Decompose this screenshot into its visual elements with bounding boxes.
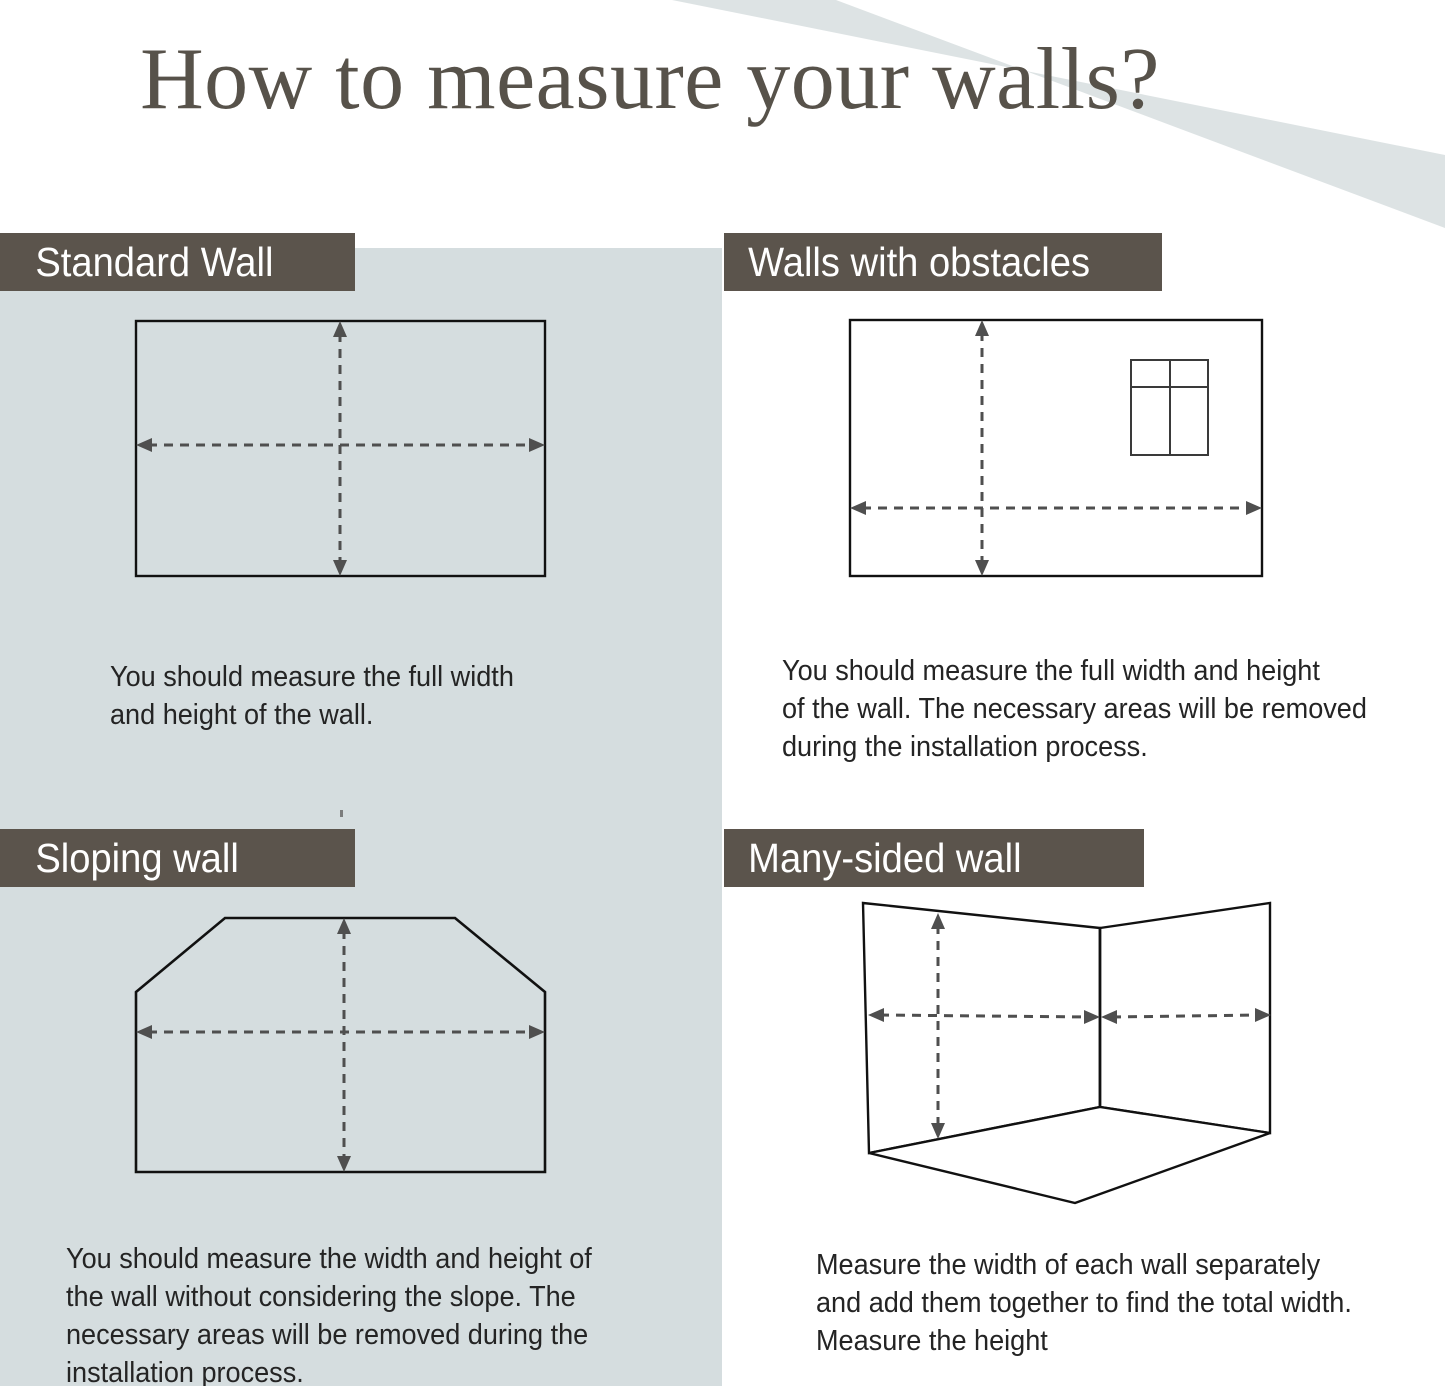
left-wall-face	[863, 903, 1100, 1153]
caption-text: You should measure the full width and he…	[110, 658, 680, 734]
caption-sloping-wall: You should measure the width and height …	[66, 1202, 676, 1386]
caption-text: You should measure the full width and he…	[782, 652, 1390, 766]
section-header-many-sided-wall: Many-sided wall	[724, 829, 1144, 887]
speck-artifact	[340, 810, 343, 817]
diagram-walls-with-obstacles	[830, 300, 1300, 600]
window-icon	[1131, 360, 1208, 455]
section-header-label: Sloping wall	[0, 829, 330, 887]
section-header-sloping-wall: Sloping wall	[0, 829, 355, 887]
page-title: How to measure your walls?	[0, 34, 1300, 126]
caption-standard-wall: You should measure the full width and he…	[110, 620, 710, 772]
caption-walls-with-obstacles: You should measure the full width and he…	[782, 614, 1422, 804]
caption-many-sided-wall: Measure the width of each wall separatel…	[816, 1208, 1436, 1386]
wall-rectangle	[850, 320, 1262, 576]
caption-text: Measure the width of each wall separatel…	[816, 1246, 1405, 1360]
section-header-walls-with-obstacles: Walls with obstacles	[724, 233, 1162, 291]
width-arrow-icon	[850, 501, 1262, 515]
diagram-many-sided-wall	[840, 890, 1310, 1220]
height-arrow-icon	[975, 320, 989, 576]
section-header-label: Standard Wall	[0, 233, 330, 291]
height-arrow-icon	[931, 913, 945, 1139]
section-header-label: Walls with obstacles	[724, 233, 1131, 291]
caption-text: You should measure the width and height …	[66, 1240, 646, 1386]
right-wall-face	[1100, 903, 1270, 1133]
infographic-page: How to measure your walls? Standard Wall…	[0, 0, 1445, 1386]
section-header-standard-wall: Standard Wall	[0, 233, 355, 291]
section-header-label: Many-sided wall	[724, 829, 1115, 887]
left-wall-width-arrow-icon	[868, 1008, 1100, 1024]
floor-face	[869, 1107, 1270, 1203]
right-wall-width-arrow-icon	[1101, 1008, 1271, 1024]
